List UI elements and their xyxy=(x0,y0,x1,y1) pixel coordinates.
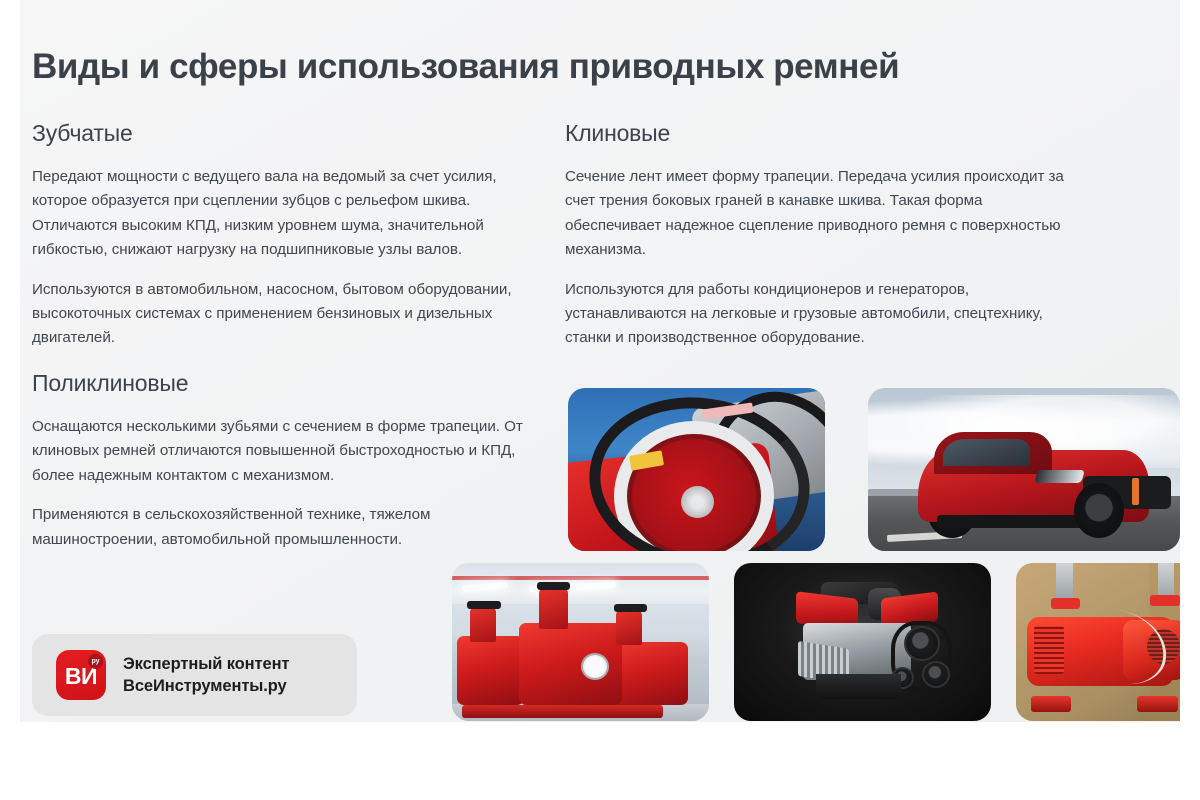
infographic-page: Виды и сферы использования приводных рем… xyxy=(0,0,1200,800)
photo-v8-engine xyxy=(734,563,991,721)
brand-badge: ВИ ру Экспертный контент ВсеИнструменты.… xyxy=(32,634,357,716)
section-paragraph: Передают мощности с ведущего вала на вед… xyxy=(32,165,527,263)
photo-fire-pumps xyxy=(452,563,709,721)
photo-belt-pulley xyxy=(568,388,825,551)
car-headlight xyxy=(1035,470,1086,483)
section-klinovye: Клиновые Сечение лент имеет форму трапец… xyxy=(565,118,1075,351)
pump-unit xyxy=(611,642,688,705)
brand-line-1: Экспертный контент xyxy=(123,653,289,675)
vseinstrumenty-logo-icon: ВИ ру xyxy=(56,650,106,700)
engine-oil-pan xyxy=(816,674,901,699)
pump-base xyxy=(462,705,662,718)
brand-line-2: ВсеИнструменты.ру xyxy=(123,675,289,697)
pump-tower xyxy=(539,588,567,629)
section-paragraph: Оснащаются несколькими зубьями с сечение… xyxy=(32,415,532,488)
photo-scene xyxy=(452,563,709,721)
pump-unit xyxy=(457,636,524,706)
car-accent-stripe xyxy=(1132,478,1140,506)
engine-pulley xyxy=(922,661,950,688)
pump-cap xyxy=(614,604,647,612)
car-wheel-front xyxy=(1074,483,1124,538)
pump-cap xyxy=(467,601,500,609)
section-paragraph: Применяются в сельскохозяйственной техни… xyxy=(32,503,532,552)
section-paragraph: Используются для работы кондиционеров и … xyxy=(565,278,1075,351)
photo-scene xyxy=(568,388,825,551)
logo-ru-badge: ру xyxy=(88,654,103,669)
section-paragraph: Сечение лент имеет форму трапеции. Перед… xyxy=(565,165,1075,263)
pump-tower xyxy=(616,610,642,645)
photo-sports-car xyxy=(868,388,1180,551)
car-window xyxy=(943,439,1030,467)
photo-red-pump-motor xyxy=(1016,563,1180,721)
pump-tower xyxy=(470,607,496,642)
engine-pulley xyxy=(904,626,940,661)
page-title: Виды и сферы использования приводных рем… xyxy=(32,46,1122,88)
mounting-foot xyxy=(1137,696,1177,712)
section-heading-poliklinovye: Поликлиновые xyxy=(32,368,532,398)
mounting-foot xyxy=(1031,696,1071,712)
riser-pipe xyxy=(1056,563,1073,601)
photo-scene xyxy=(734,563,991,721)
pump-cap xyxy=(537,582,570,590)
content-canvas: Виды и сферы использования приводных рем… xyxy=(20,0,1180,722)
brand-text: Экспертный контент ВсеИнструменты.ру xyxy=(123,653,289,697)
pressure-gauge xyxy=(581,653,609,680)
section-paragraph: Используются в автомобильном, насосном, … xyxy=(32,278,527,351)
ceiling-pipe xyxy=(452,576,709,580)
cooling-fins xyxy=(1034,626,1063,673)
pipe-flange xyxy=(1150,595,1179,606)
section-heading-klinovye: Клиновые xyxy=(565,118,1075,148)
photo-scene xyxy=(1016,563,1180,721)
section-heading-zubchatye: Зубчатые xyxy=(32,118,527,148)
section-zubchatye: Зубчатые Передают мощности с ведущего ва… xyxy=(32,118,527,351)
photo-scene xyxy=(868,388,1180,551)
section-poliklinovye: Поликлиновые Оснащаются несколькими зубь… xyxy=(32,368,532,552)
